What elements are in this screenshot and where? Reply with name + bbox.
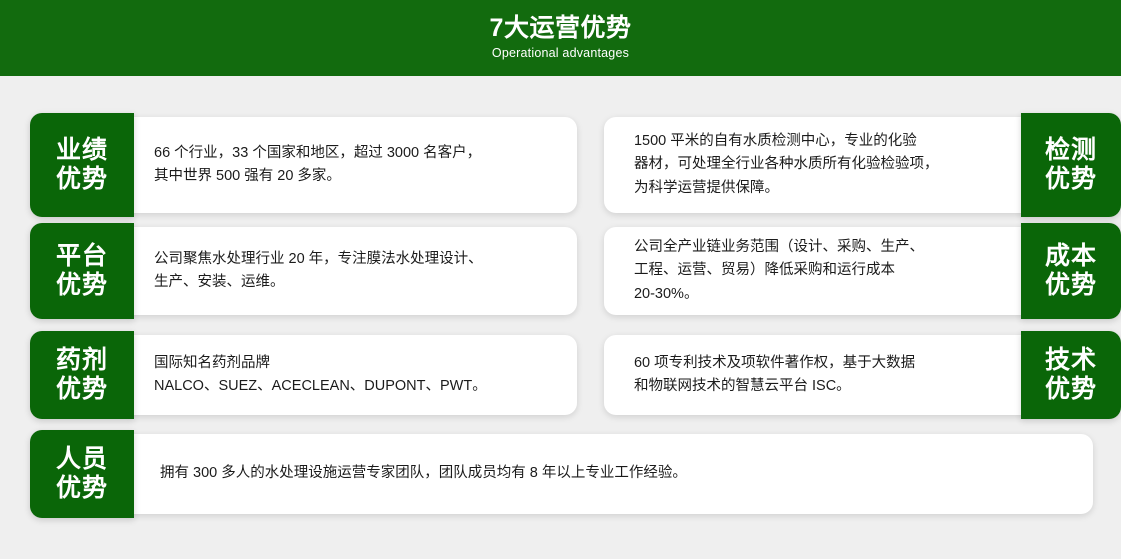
advantage-card[interactable]: 业绩 优势 66 个行业，33 个国家和地区，超过 3000 名客户， 其中世界… xyxy=(30,117,577,213)
advantage-panel: 60 项专利技术及项软件著作权，基于大数据 和物联网技术的智慧云平台 ISC。 xyxy=(604,335,1025,415)
advantage-card[interactable]: 人员 优势 拥有 300 多人的水处理设施运营专家团队，团队成员均有 8 年以上… xyxy=(30,434,1093,514)
page-subtitle: Operational advantages xyxy=(492,45,629,61)
advantage-row-2: 平台 优势 公司聚焦水处理行业 20 年，专注膜法水处理设计、 生产、安装、运维… xyxy=(0,227,1121,315)
advantage-label-line-2: 优势 xyxy=(56,375,108,405)
advantage-label-line-1: 业绩 xyxy=(56,136,108,166)
advantage-body-text: 国际知名药剂品牌 NALCO、SUEZ、ACECLEAN、DUPONT、PWT。 xyxy=(154,352,487,399)
advantage-label-line-2: 优势 xyxy=(1045,271,1097,301)
advantage-body-text: 拥有 300 多人的水处理设施运营专家团队，团队成员均有 8 年以上专业工作经验… xyxy=(160,462,687,485)
advantage-label-line-1: 平台 xyxy=(56,242,108,272)
advantage-cell-chemicals: 药剂 优势 国际知名药剂品牌 NALCO、SUEZ、ACECLEAN、DUPON… xyxy=(30,335,577,415)
page-header: 7大运营优势 Operational advantages xyxy=(0,0,1121,76)
advantages-grid: 业绩 优势 66 个行业，33 个国家和地区，超过 3000 名客户， 其中世界… xyxy=(0,76,1121,559)
advantage-label-tab: 药剂 优势 xyxy=(30,331,134,419)
advantage-cell-cost: 成本 优势 公司全产业链业务范围（设计、采购、生产、 工程、运营、贸易）降低采购… xyxy=(604,227,1121,315)
advantage-panel: 拥有 300 多人的水处理设施运营专家团队，团队成员均有 8 年以上专业工作经验… xyxy=(130,434,1093,514)
advantage-label-line-1: 检测 xyxy=(1045,136,1097,166)
advantage-label-tab: 人员 优势 xyxy=(30,430,134,518)
advantage-label-tab: 业绩 优势 xyxy=(30,113,134,217)
advantages-infographic: 7大运营优势 Operational advantages 业绩 优势 66 个… xyxy=(0,0,1121,559)
advantage-label-line-1: 技术 xyxy=(1045,346,1097,376)
advantage-label-line-2: 优势 xyxy=(56,474,108,504)
advantage-row-4: 人员 优势 拥有 300 多人的水处理设施运营专家团队，团队成员均有 8 年以上… xyxy=(0,434,1121,514)
advantage-label-tab: 平台 优势 xyxy=(30,223,134,319)
advantage-cell-personnel: 人员 优势 拥有 300 多人的水处理设施运营专家团队，团队成员均有 8 年以上… xyxy=(30,434,1093,514)
advantage-label-tab: 成本 优势 xyxy=(1021,223,1121,319)
advantage-cell-technology: 技术 优势 60 项专利技术及项软件著作权，基于大数据 和物联网技术的智慧云平台… xyxy=(604,335,1121,415)
advantage-panel: 国际知名药剂品牌 NALCO、SUEZ、ACECLEAN、DUPONT、PWT。 xyxy=(130,335,577,415)
advantage-card[interactable]: 技术 优势 60 项专利技术及项软件著作权，基于大数据 和物联网技术的智慧云平台… xyxy=(604,335,1121,415)
advantage-card[interactable]: 平台 优势 公司聚焦水处理行业 20 年，专注膜法水处理设计、 生产、安装、运维… xyxy=(30,227,577,315)
advantage-panel: 66 个行业，33 个国家和地区，超过 3000 名客户， 其中世界 500 强… xyxy=(130,117,577,213)
advantage-cell-platform: 平台 优势 公司聚焦水处理行业 20 年，专注膜法水处理设计、 生产、安装、运维… xyxy=(30,227,577,315)
advantage-card[interactable]: 成本 优势 公司全产业链业务范围（设计、采购、生产、 工程、运营、贸易）降低采购… xyxy=(604,227,1121,315)
advantage-body-text: 60 项专利技术及项软件著作权，基于大数据 和物联网技术的智慧云平台 ISC。 xyxy=(634,352,915,399)
advantage-row-1: 业绩 优势 66 个行业，33 个国家和地区，超过 3000 名客户， 其中世界… xyxy=(0,117,1121,213)
advantage-card[interactable]: 药剂 优势 国际知名药剂品牌 NALCO、SUEZ、ACECLEAN、DUPON… xyxy=(30,335,577,415)
advantage-cell-testing: 检测 优势 1500 平米的自有水质检测中心，专业的化验 器材，可处理全行业各种… xyxy=(604,117,1121,213)
advantage-label-line-2: 优势 xyxy=(56,271,108,301)
advantage-label-line-2: 优势 xyxy=(56,165,108,195)
advantage-panel: 公司全产业链业务范围（设计、采购、生产、 工程、运营、贸易）降低采购和运行成本 … xyxy=(604,227,1025,315)
advantage-label-line-1: 药剂 xyxy=(56,346,108,376)
advantage-label-line-2: 优势 xyxy=(1045,165,1097,195)
advantage-panel: 公司聚焦水处理行业 20 年，专注膜法水处理设计、 生产、安装、运维。 xyxy=(130,227,577,315)
advantage-row-3: 药剂 优势 国际知名药剂品牌 NALCO、SUEZ、ACECLEAN、DUPON… xyxy=(0,335,1121,415)
advantage-body-text: 66 个行业，33 个国家和地区，超过 3000 名客户， 其中世界 500 强… xyxy=(154,142,481,189)
advantage-body-text: 1500 平米的自有水质检测中心，专业的化验 器材，可处理全行业各种水质所有化验… xyxy=(634,130,939,200)
advantage-label-line-1: 成本 xyxy=(1045,242,1097,272)
advantage-label-line-1: 人员 xyxy=(56,445,108,475)
advantage-panel: 1500 平米的自有水质检测中心，专业的化验 器材，可处理全行业各种水质所有化验… xyxy=(604,117,1025,213)
advantage-label-tab: 技术 优势 xyxy=(1021,331,1121,419)
advantage-body-text: 公司聚焦水处理行业 20 年，专注膜法水处理设计、 生产、安装、运维。 xyxy=(154,248,483,295)
advantage-cell-performance: 业绩 优势 66 个行业，33 个国家和地区，超过 3000 名客户， 其中世界… xyxy=(30,117,577,213)
advantage-body-text: 公司全产业链业务范围（设计、采购、生产、 工程、运营、贸易）降低采购和运行成本 … xyxy=(634,236,924,306)
advantage-label-tab: 检测 优势 xyxy=(1021,113,1121,217)
advantage-label-line-2: 优势 xyxy=(1045,375,1097,405)
advantage-card[interactable]: 检测 优势 1500 平米的自有水质检测中心，专业的化验 器材，可处理全行业各种… xyxy=(604,117,1121,213)
page-title: 7大运营优势 xyxy=(490,14,632,42)
